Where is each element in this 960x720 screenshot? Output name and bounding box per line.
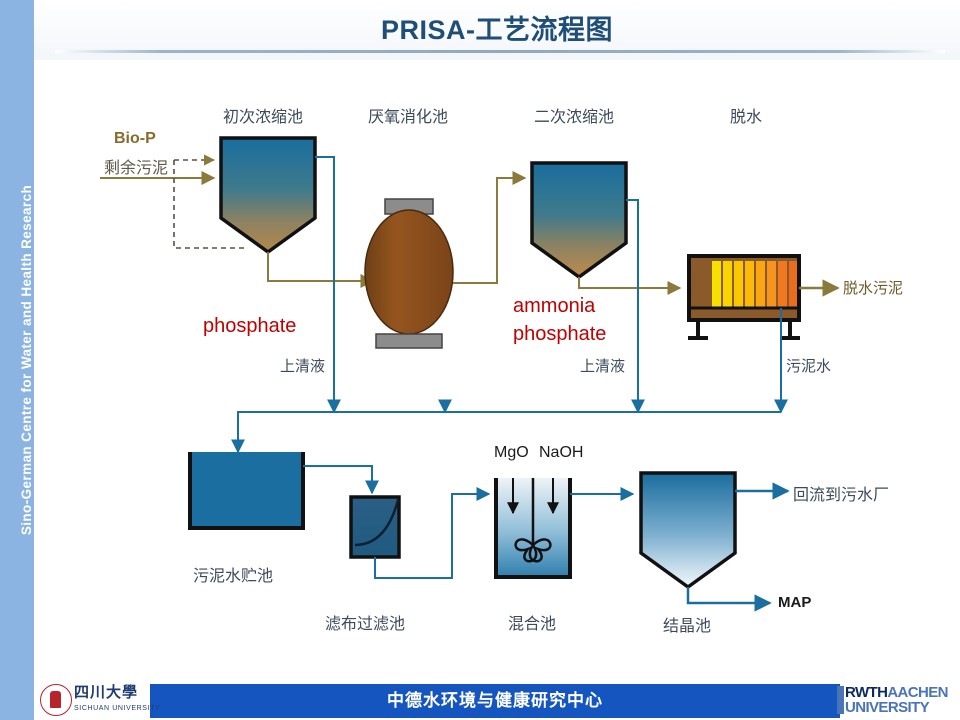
- annotation-map-product: MAP: [778, 594, 811, 611]
- annotation-sludge-water: 污泥水: [786, 355, 831, 376]
- cloth-filter-shape: [351, 497, 399, 557]
- slide-canvas: Sino-German Centre for Water and Health …: [0, 0, 960, 720]
- rwth-aachen-logo: RWTHAACHEN UNIVERSITY: [845, 684, 957, 718]
- pipe-map-product: [688, 587, 770, 603]
- annotation-supernatant-2: 上清液: [580, 355, 625, 376]
- sichuan-university-logo: 四川大學 SICHUAN UNIVERSITY: [40, 682, 160, 718]
- label-sludge-water-storage: 污泥水贮池: [193, 562, 273, 586]
- sludge-water-storage-shape: [190, 452, 303, 528]
- label-anaerobic-digester: 厌氧消化池: [368, 103, 448, 127]
- label-primary-thickener: 初次浓缩池: [223, 103, 303, 127]
- anaerobic-digester-shape: [365, 199, 453, 348]
- label-dewatering: 脱水: [730, 103, 762, 127]
- label-excess-sludge-input: 剩余污泥: [104, 154, 168, 178]
- label-mixing-tank: 混合池: [508, 610, 556, 634]
- label-cloth-filter: 滤布过滤池: [325, 610, 405, 634]
- primary-thickener-shape: [221, 138, 315, 252]
- rwth-logo-line2: UNIVERSITY: [845, 699, 929, 716]
- pipe-storage-to-filter: [303, 466, 372, 493]
- annotation-supernatant-1: 上清液: [280, 355, 325, 376]
- annotation-phosphate-1: phosphate: [203, 315, 296, 338]
- label-secondary-thickener: 二次浓缩池: [534, 103, 614, 127]
- annotation-ammonia: ammonia: [513, 295, 595, 318]
- sichuan-logo-en: SICHUAN UNIVERSITY: [74, 703, 164, 715]
- rwth-logo-university: UNIVERSITY: [845, 699, 929, 716]
- rwth-accent-bar: [837, 686, 844, 714]
- label-chemical-naoh: NaOH: [539, 444, 583, 462]
- label-crystallizer: 结晶池: [663, 612, 711, 636]
- annotation-phosphate-2: phosphate: [513, 323, 606, 346]
- dewatering-unit-shape: [688, 256, 800, 338]
- mixing-tank-shape: [496, 478, 570, 577]
- secondary-thickener-shape: [532, 163, 626, 277]
- label-biop-input: Bio-P: [114, 130, 156, 148]
- sichuan-seal-icon: [40, 684, 72, 716]
- footer-center-text: 中德水环境与健康研究中心: [150, 684, 840, 718]
- annotation-return-to-wwtp: 回流到污水厂: [793, 481, 889, 505]
- pipe-thickened-sludge-to-digester: [268, 252, 373, 281]
- sichuan-logo-cn: 四川大學: [74, 682, 160, 704]
- annotation-dewatered-sludge: 脱水污泥: [843, 277, 903, 298]
- pipe-digested-sludge-to-secondary: [453, 178, 525, 283]
- pipe-supernatant-2: [626, 200, 638, 412]
- crystallizer-shape: [641, 473, 735, 587]
- label-chemical-mgo: MgO: [494, 444, 529, 462]
- pipe-sludge-to-dewatering: [579, 277, 680, 288]
